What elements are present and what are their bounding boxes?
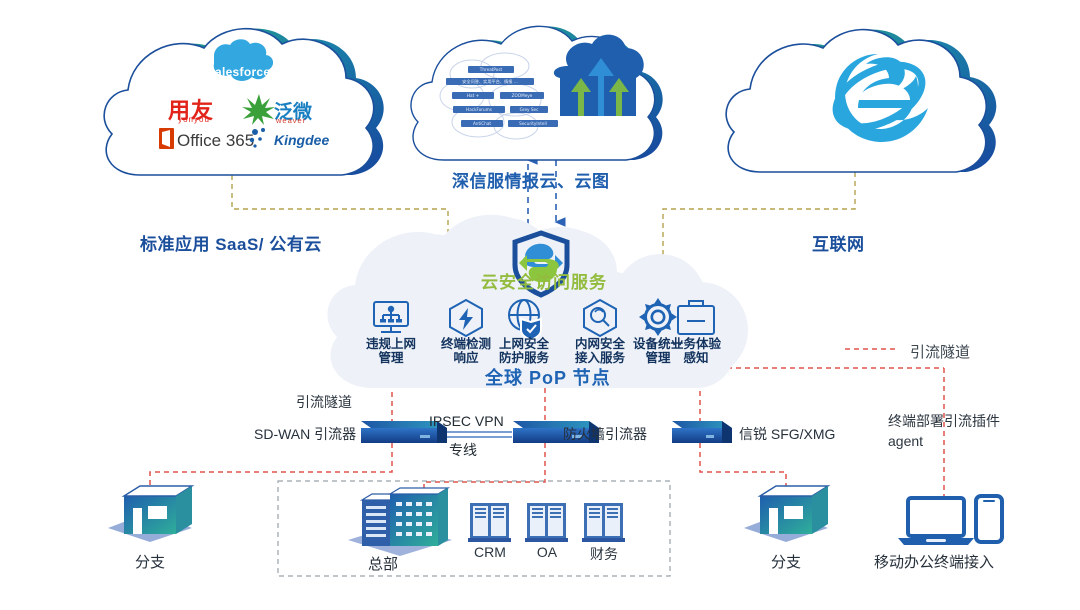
service-label-5-line2: 感知 bbox=[665, 351, 727, 365]
service-label-2-line2: 防护服务 bbox=[493, 351, 555, 365]
service-label-0-line2: 管理 bbox=[360, 351, 422, 365]
internet-cloud-shape bbox=[726, 30, 996, 172]
firewall-device-label: 防火墙引流器 bbox=[563, 424, 647, 444]
threat-chip-5: Grey Sec bbox=[510, 106, 548, 113]
threat-chip-6: AntiChat bbox=[461, 120, 503, 127]
service-label-0: 违规上网 管理 bbox=[360, 337, 422, 365]
internet-section-label: 互联网 bbox=[812, 230, 865, 255]
service-label-1-line1: 终端检测 bbox=[435, 337, 497, 351]
server-label-oa: OA bbox=[527, 544, 567, 560]
service-label-1: 终端检测 响应 bbox=[435, 337, 497, 365]
branch-building-right-icon bbox=[744, 486, 828, 542]
server-label-finance: 财务 bbox=[584, 544, 624, 564]
kingdee-dots-icon bbox=[249, 127, 273, 151]
service-label-0-line1: 违规上网 bbox=[360, 337, 422, 351]
service-label-5: 业务体验 感知 bbox=[665, 337, 727, 365]
link-internet-to-cloud bbox=[663, 172, 855, 272]
branch-building-left-icon bbox=[108, 486, 192, 542]
legend-dash-icon bbox=[845, 345, 901, 353]
saas-logo-salesforce: salesforce bbox=[208, 65, 270, 79]
threat-chip-2: Hat + bbox=[452, 92, 494, 99]
legend-tunnel-label: 引流隧道 bbox=[910, 341, 970, 362]
server-icon-crm bbox=[468, 503, 511, 542]
threat-chip-1: 安全问答、实用平台、情报 ... bbox=[446, 78, 534, 85]
saas-logo-weaver-sub: weaver bbox=[276, 116, 306, 125]
server-icon-finance bbox=[582, 503, 625, 542]
branch-right-label: 分支 bbox=[771, 551, 801, 572]
pop-node-title: 全球 PoP 节点 bbox=[485, 364, 611, 390]
service-label-3-line1: 内网安全 bbox=[569, 337, 631, 351]
laptop-phone-icon bbox=[898, 496, 1002, 545]
hq-label: 总部 bbox=[368, 553, 398, 574]
cloud-service-title: 云安全访问服务 bbox=[481, 268, 607, 293]
sfg-device-label: 信锐 SFG/XMG bbox=[739, 424, 835, 444]
agent-label-line2: agent bbox=[888, 431, 923, 451]
threat-chip-0: ThreatPost bbox=[468, 66, 514, 73]
mobile-terminal-label: 移动办公终端接入 bbox=[874, 551, 994, 572]
service-label-1-line2: 响应 bbox=[435, 351, 497, 365]
threat-chip-3: ZOOMeye bbox=[500, 92, 544, 99]
threat-cloud-label: 深信服情报云、云图 bbox=[452, 167, 610, 192]
threat-chip-4: HackForums bbox=[453, 106, 505, 113]
link-label-leased-line: 专线 bbox=[449, 440, 477, 460]
agent-label-line1: 终端部署引流插件 bbox=[888, 411, 1000, 431]
hq-building-icon bbox=[348, 488, 452, 556]
service-label-2-line1: 上网安全 bbox=[493, 337, 555, 351]
service-label-3: 内网安全 接入服务 bbox=[569, 337, 631, 365]
link-label-ipsec: IPSEC VPN bbox=[429, 413, 504, 429]
sdwan-device-label: SD-WAN 引流器 bbox=[254, 424, 356, 444]
server-label-crm: CRM bbox=[470, 544, 510, 560]
saas-logo-yonyou-sub: yonyou bbox=[168, 115, 220, 124]
saas-section-label: 标准应用 SaaS/ 公有云 bbox=[140, 230, 322, 255]
device-sfg-router-icon bbox=[672, 421, 732, 443]
weaver-star-icon bbox=[242, 92, 276, 126]
service-label-5-line1: 业务体验 bbox=[665, 337, 727, 351]
server-icon-oa bbox=[525, 503, 568, 542]
saas-logo-kingdee: Kingdee bbox=[274, 132, 329, 148]
service-label-2: 上网安全 防护服务 bbox=[493, 337, 555, 365]
service-label-3-line2: 接入服务 bbox=[569, 351, 631, 365]
device-link-line bbox=[440, 432, 512, 437]
diagram-canvas: salesforce 用友 yonyou 泛微 weaver Office 36… bbox=[0, 0, 1080, 610]
tunnel-label-left: 引流隧道 bbox=[296, 392, 352, 412]
saas-logo-office365: Office 365 bbox=[177, 131, 254, 151]
branch-left-label: 分支 bbox=[135, 551, 165, 572]
office-icon bbox=[159, 128, 175, 150]
threat-chip-7: SecurityIntell bbox=[508, 120, 558, 127]
